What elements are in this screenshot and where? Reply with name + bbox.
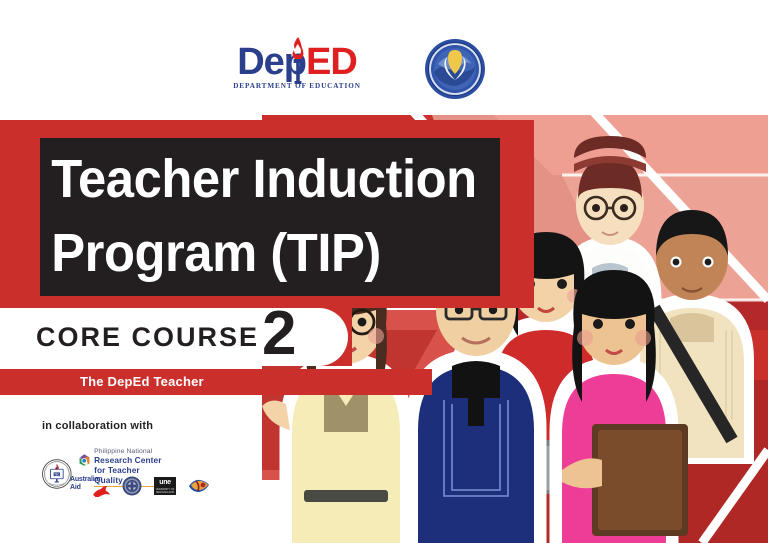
rctq-line-1: Philippine National — [94, 448, 170, 455]
page-title: Teacher Induction Program (TIP) — [40, 138, 500, 296]
tec-seal-icon: TEC — [42, 446, 72, 502]
simerr-logo-icon — [188, 477, 210, 495]
header-logos: DepED DEPARTMENT OF EDUCATION — [0, 0, 520, 112]
collaboration-block: in collaboration with TEC — [42, 420, 153, 432]
une-logo-icon: une UNIVERSITY OF NEW ENGLAND — [154, 477, 176, 495]
neap-seal-icon — [424, 38, 486, 100]
australian-aid-line-1: Australian — [70, 476, 110, 484]
core-course-number: 2 — [262, 303, 296, 365]
pnu-seal-icon — [122, 476, 142, 496]
title-line-1: Teacher Induction — [40, 138, 472, 216]
une-text: une — [154, 479, 176, 486]
deped-wordmark: DepED — [222, 42, 372, 82]
australian-aid-logo: Australian Aid — [70, 476, 110, 496]
rctq-mark-icon — [78, 448, 90, 472]
torch-icon — [290, 36, 306, 84]
course-subtitle: The DepEd Teacher — [80, 374, 204, 389]
svg-text:TEC: TEC — [54, 473, 59, 476]
une-subtext: UNIVERSITY OF NEW ENGLAND — [154, 488, 176, 494]
core-course-label: CORE COURSE — [36, 322, 259, 353]
collaboration-heading: in collaboration with — [42, 420, 153, 432]
kangaroo-icon — [90, 485, 112, 497]
deped-word-ed: ED — [306, 41, 357, 83]
title-line-2: Program (TIP) — [40, 216, 472, 290]
deped-subtitle: DEPARTMENT OF EDUCATION — [222, 82, 372, 90]
book-cover: Teacher Induction Program (TIP) CORE COU… — [0, 0, 768, 543]
deped-logo: DepED DEPARTMENT OF EDUCATION — [222, 42, 372, 98]
course-subtitle-band: The DepEd Teacher — [0, 369, 432, 395]
donor-logos-row: Australian Aid une UNIVERSITY OF NEW ENG… — [70, 476, 210, 496]
